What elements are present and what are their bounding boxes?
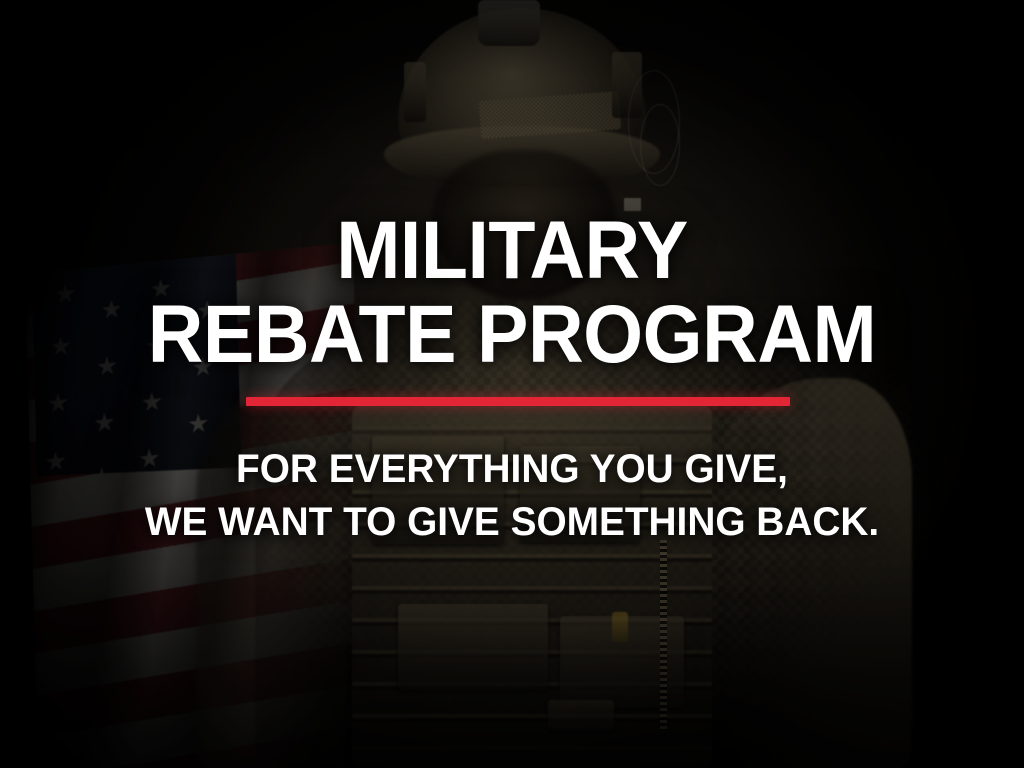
text-overlay: MILITARY REBATE PROGRAM FOR EVERYTHING Y… [0,0,1024,768]
headline-line-2: REBATE PROGRAM [31,296,994,375]
subheadline-line-2: WE WANT TO GIVE SOMETHING BACK. [15,500,1008,545]
military-rebate-banner: MILITARY REBATE PROGRAM FOR EVERYTHING Y… [0,0,1024,768]
headline-line-1: MILITARY [31,212,994,291]
red-divider-rule [246,397,790,406]
subheadline-line-1: FOR EVERYTHING YOU GIVE, [15,447,1008,492]
